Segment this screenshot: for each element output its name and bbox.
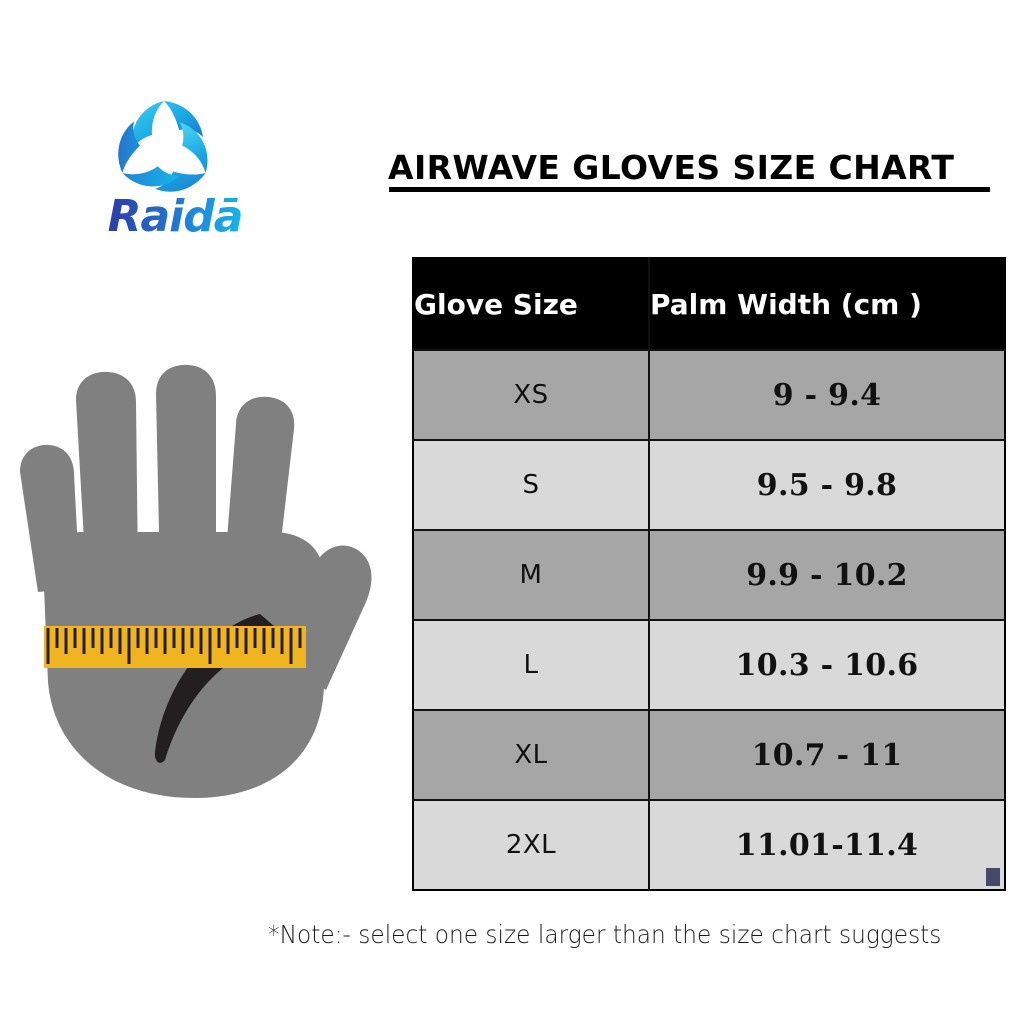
page-title: AIRWAVE GLOVES SIZE CHART	[388, 148, 1008, 187]
brand-logo: Raidā	[75, 95, 275, 245]
table-header-row: Glove Size Palm Width (cm )	[413, 258, 1005, 350]
size-chart-page: Raidā AIRWAVE GLOVES SIZE CHART	[0, 0, 1024, 1024]
table-row: L 10.3 - 10.6	[413, 620, 1005, 710]
table-row: M 9.9 - 10.2	[413, 530, 1005, 620]
cell-palm-width: 10.3 - 10.6	[649, 620, 1005, 710]
column-header-palm-width: Palm Width (cm )	[649, 258, 1005, 350]
table-row: XS 9 - 9.4	[413, 350, 1005, 440]
hand-silhouette	[20, 365, 371, 798]
table-corner-artifact	[986, 868, 1000, 886]
cell-palm-width: 11.01-11.4	[649, 800, 1005, 890]
column-header-glove-size: Glove Size	[413, 258, 649, 350]
cell-glove-size: XL	[413, 710, 649, 800]
cell-palm-width: 9.9 - 10.2	[649, 530, 1005, 620]
raida-turbine-logo-icon	[105, 97, 223, 202]
cell-glove-size: S	[413, 440, 649, 530]
page-title-underline	[389, 187, 990, 192]
cell-glove-size: M	[413, 530, 649, 620]
glove-size-table: Glove Size Palm Width (cm ) XS 9 - 9.4 S…	[412, 257, 1006, 891]
cell-palm-width: 10.7 - 11	[649, 710, 1005, 800]
measuring-tape	[44, 626, 306, 668]
size-note: *Note:- select one size larger than the …	[268, 920, 956, 949]
table-row: S 9.5 - 9.8	[413, 440, 1005, 530]
cell-palm-width: 9 - 9.4	[649, 350, 1005, 440]
hand-with-measuring-tape-illustration	[8, 352, 380, 822]
table-row: 2XL 11.01-11.4	[413, 800, 1005, 890]
brand-wordmark: Raidā	[75, 193, 275, 241]
table-row: XL 10.7 - 11	[413, 710, 1005, 800]
cell-glove-size: L	[413, 620, 649, 710]
cell-palm-width: 9.5 - 9.8	[649, 440, 1005, 530]
cell-glove-size: 2XL	[413, 800, 649, 890]
cell-glove-size: XS	[413, 350, 649, 440]
